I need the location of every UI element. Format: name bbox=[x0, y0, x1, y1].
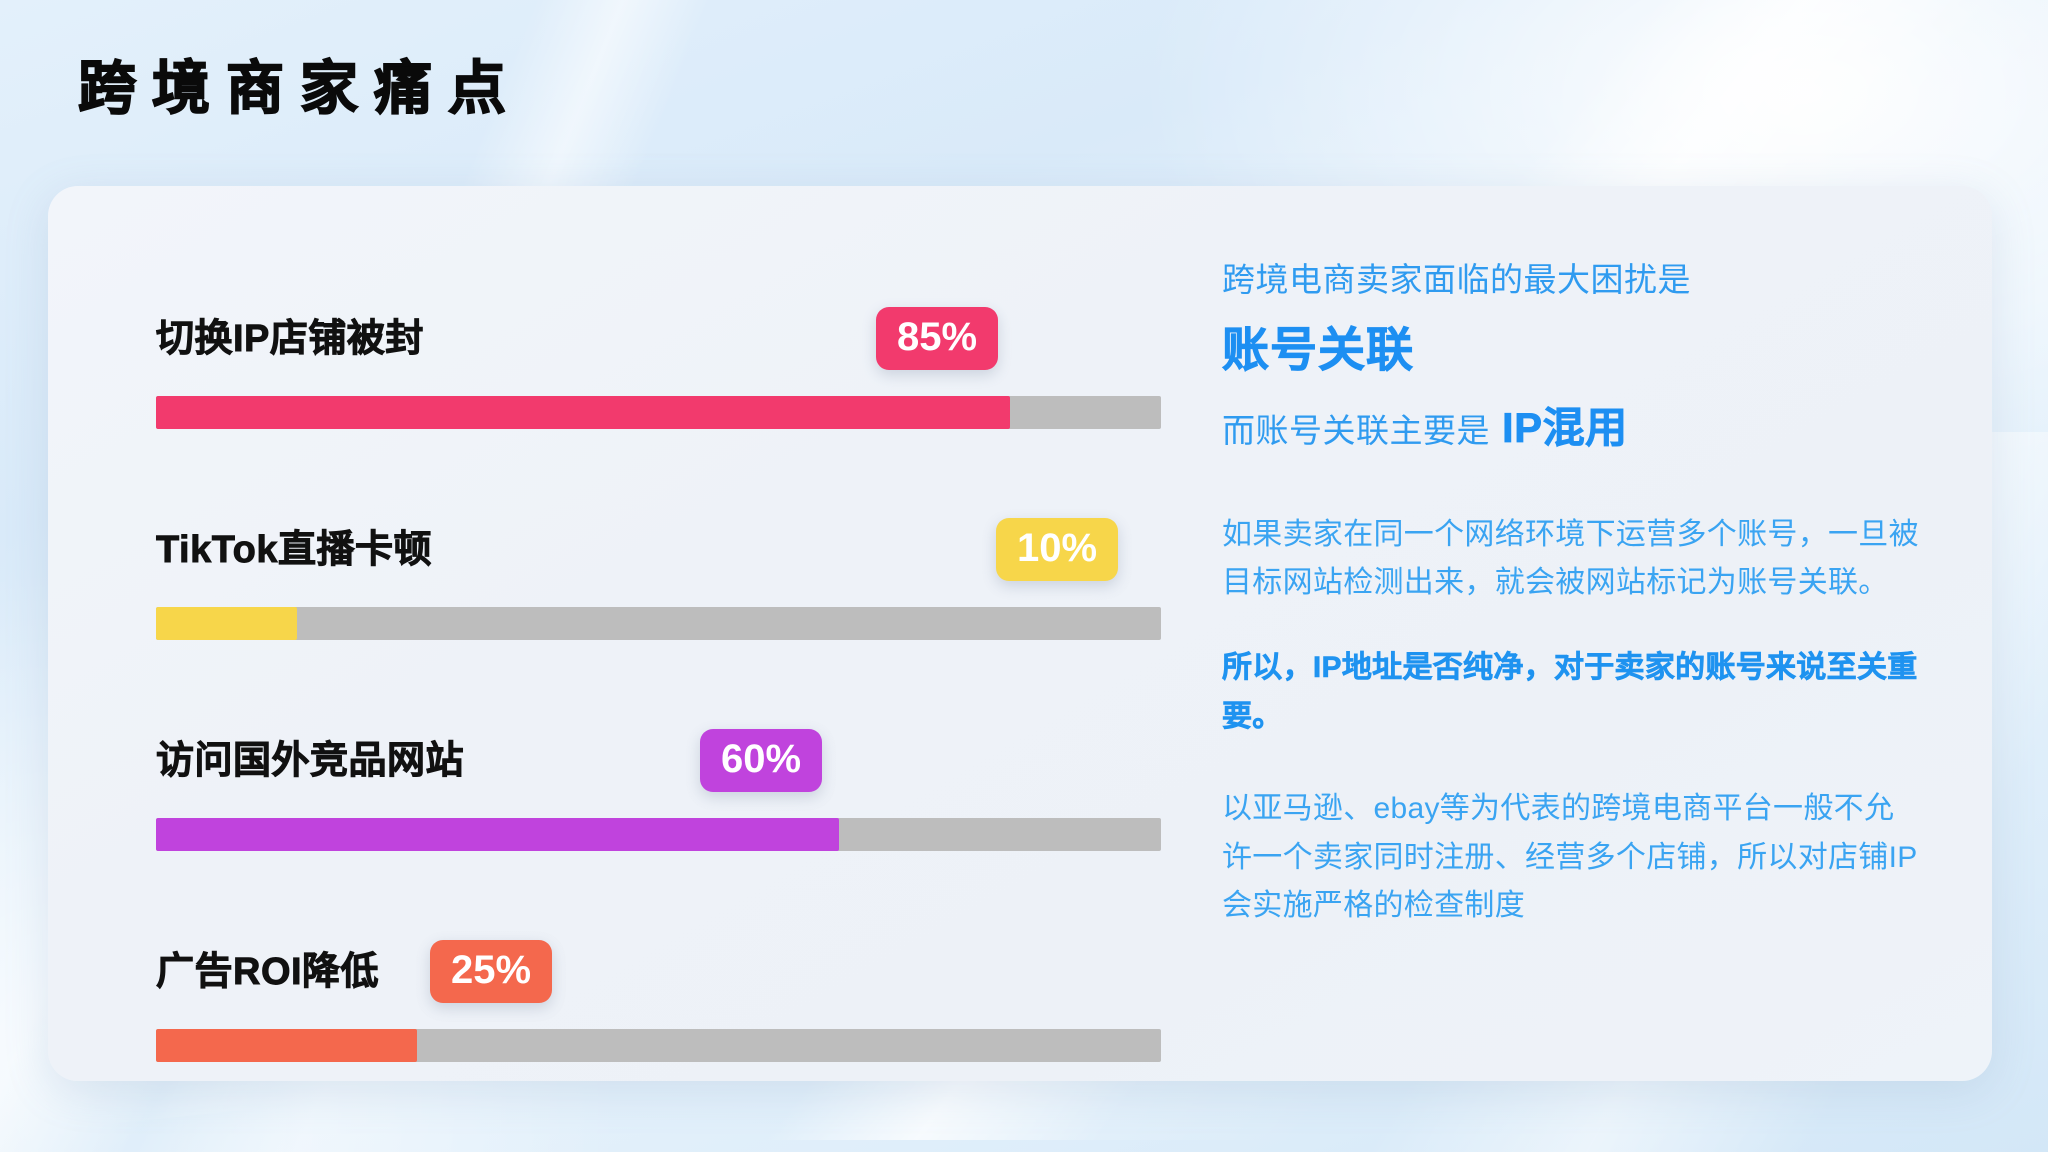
bar-fill bbox=[156, 607, 297, 640]
bar-track bbox=[156, 1029, 1161, 1062]
bar-group: 广告ROI降低 25% bbox=[108, 897, 1188, 1062]
lead-line-1: 跨境电商卖家面临的最大困扰是 bbox=[1222, 256, 1922, 304]
bar-group: 访问国外竞品网站 60% bbox=[108, 686, 1188, 851]
bar-label: 广告ROI降低 bbox=[156, 940, 379, 995]
paragraph-3: 以亚马逊、ebay等为代表的跨境电商平台一般不允许一个卖家同时注册、经营多个店铺… bbox=[1222, 785, 1922, 931]
bar-fill bbox=[156, 1029, 417, 1062]
page-title: 跨境商家痛点 bbox=[78, 57, 522, 121]
bar-group: 切换IP店铺被封 85% bbox=[108, 264, 1188, 429]
bar-value-badge: 25% bbox=[430, 940, 552, 1003]
bar-track bbox=[156, 607, 1161, 640]
paragraph-1: 如果卖家在同一个网络环境下运营多个账号，一旦被目标网站检测出来，就会被网站标记为… bbox=[1222, 511, 1922, 608]
lead-line-3-prefix: 而账号关联主要是 bbox=[1222, 412, 1490, 449]
paragraph-2: 所以，IP地址是否纯净，对于卖家的账号来说至关重要。 bbox=[1222, 644, 1922, 741]
bar-value-badge: 85% bbox=[876, 307, 998, 370]
lead-line-3: 而账号关联主要是IP混用 bbox=[1222, 398, 1922, 459]
explanation-panel: 跨境电商卖家面临的最大困扰是 账号关联 而账号关联主要是IP混用 如果卖家在同一… bbox=[1188, 186, 1992, 1081]
bar-track bbox=[156, 396, 1161, 429]
slide-root: 跨境商家痛点 切换IP店铺被封 85% TikTok直播卡顿 bbox=[0, 0, 2048, 1152]
bar-value-badge: 10% bbox=[996, 518, 1118, 581]
lead-line-3-strong: IP混用 bbox=[1490, 404, 1628, 451]
lead-line-2-highlight: 账号关联 bbox=[1222, 316, 1922, 384]
bar-fill bbox=[156, 818, 839, 851]
bar-label: 访问国外竞品网站 bbox=[156, 729, 464, 784]
bar-label: 切换IP店铺被封 bbox=[156, 307, 424, 362]
bar-track bbox=[156, 818, 1161, 851]
bar-label: TikTok直播卡顿 bbox=[156, 518, 432, 573]
bar-group: TikTok直播卡顿 10% bbox=[108, 475, 1188, 640]
pain-point-bar-chart: 切换IP店铺被封 85% TikTok直播卡顿 10% bbox=[48, 186, 1188, 1081]
bar-fill bbox=[156, 396, 1010, 429]
bar-value-badge: 60% bbox=[700, 729, 822, 792]
content-card: 切换IP店铺被封 85% TikTok直播卡顿 10% bbox=[48, 186, 1992, 1081]
